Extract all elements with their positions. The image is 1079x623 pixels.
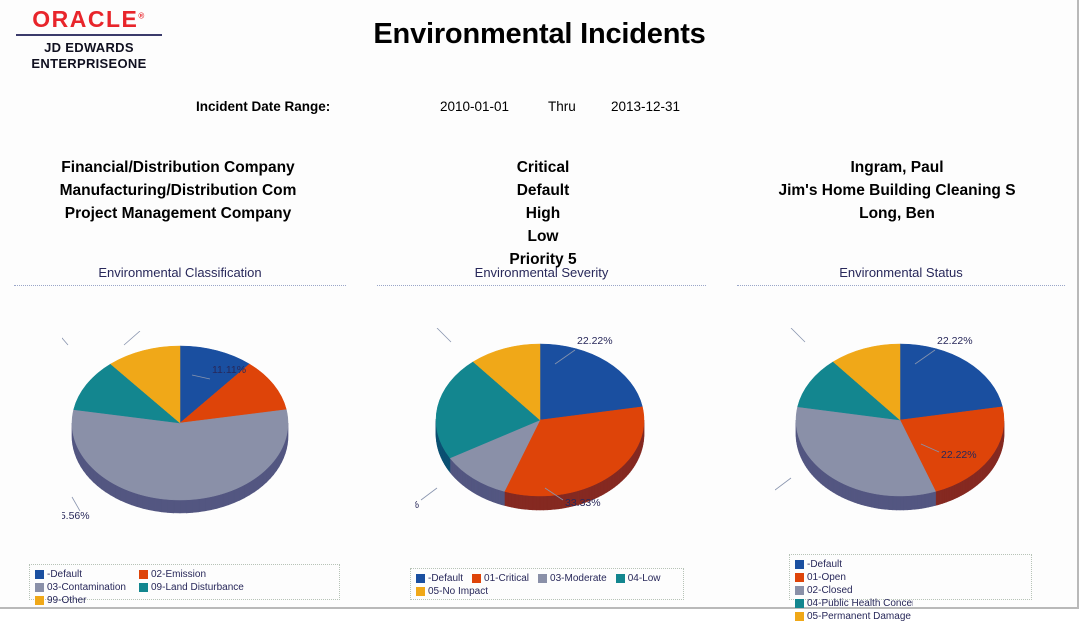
legend-severity: -Default01-Critical03-Moderate04-Low05-N…	[410, 568, 684, 600]
legend-swatch-icon	[795, 560, 804, 569]
pie-graphic: 11.11%11.11%55.56%11.11%11.11%	[62, 331, 298, 536]
pie-svg-status: 22.22%22.22%33.33%11.11%11.11%	[775, 328, 1025, 533]
pie-slice-percent-label: 55.56%	[62, 510, 90, 522]
legend-item: 03-Contamination	[35, 581, 139, 594]
chart-title-status: Environmental Status	[723, 265, 1079, 285]
legend-swatch-icon	[472, 574, 481, 583]
legend-item: 02-Emission	[139, 568, 243, 581]
chart-panel-classification: Environmental Classification 11.11%11.11…	[0, 265, 360, 536]
legend-item: 01-Critical	[472, 572, 529, 585]
list-item: Ingram, Paul	[722, 156, 1072, 179]
list-item: Project Management Company	[18, 202, 338, 225]
legend-label: 02-Closed	[807, 584, 853, 597]
list-item: Critical	[380, 156, 706, 179]
legend-swatch-icon	[35, 596, 44, 605]
legend-label: 02-Emission	[151, 568, 206, 581]
legend-swatch-icon	[35, 570, 44, 579]
chart-title-classification: Environmental Classification	[0, 265, 360, 285]
legend-item: 05-Permanent Damage	[795, 610, 913, 623]
report-page: ORACLE® JD EDWARDS ENTERPRISEONE Environ…	[0, 0, 1079, 609]
pie-chart-status: 22.22%22.22%33.33%11.11%11.11%	[723, 286, 1079, 536]
pie-slice-percent-label: 22.22%	[937, 335, 973, 347]
legend-item: -Default	[35, 568, 139, 581]
legend-label: 04-Low	[628, 572, 661, 585]
legend-swatch-icon	[795, 612, 804, 621]
pie-slice-percent-label: 11.11%	[415, 499, 419, 511]
label-leader-line	[62, 331, 68, 345]
chart-panel-severity: Environmental Severity 22.22%33.33%11.11…	[363, 265, 720, 536]
legend-items: -Default01-Open02-Closed04-Public Health…	[795, 558, 1027, 623]
legend-label: 04-Public Health Concern	[807, 597, 913, 610]
date-range-label: Incident Date Range:	[196, 99, 330, 114]
legend-status: -Default01-Open02-Closed04-Public Health…	[789, 554, 1032, 600]
legend-label: -Default	[807, 558, 842, 571]
legend-label: 99-Other	[47, 594, 86, 607]
list-item: Low	[380, 225, 706, 248]
legend-label: -Default	[428, 572, 463, 585]
list-item: Manufacturing/Distribution Com	[18, 179, 338, 202]
legend-label: 09-Land Disturbance	[151, 581, 244, 594]
legend-swatch-icon	[139, 570, 148, 579]
legend-label: 03-Moderate	[550, 572, 607, 585]
page-title: Environmental Incidents	[0, 18, 1079, 51]
legend-items: -Default02-Emission03-Contamination09-La…	[35, 568, 335, 607]
label-leader-line	[437, 328, 451, 342]
list-item: Financial/Distribution Company	[18, 156, 338, 179]
list-item: Default	[380, 179, 706, 202]
legend-item: 05-No Impact	[416, 585, 488, 598]
label-leader-line	[775, 478, 791, 490]
legend-label: 03-Contamination	[47, 581, 126, 594]
pie-svg-severity: 22.22%33.33%11.11%22.22%11.11%	[415, 328, 665, 533]
legend-swatch-icon	[795, 586, 804, 595]
pie-slice-percent-label: 22.22%	[941, 449, 977, 461]
label-leader-line	[72, 497, 80, 511]
people-parameter-list: Ingram, Paul Jim's Home Building Cleanin…	[722, 156, 1072, 225]
legend-label: -Default	[47, 568, 82, 581]
list-item: High	[380, 202, 706, 225]
legend-item: 02-Closed	[795, 584, 913, 597]
legend-item: -Default	[795, 558, 913, 571]
legend-item: 09-Land Disturbance	[139, 581, 243, 594]
legend-label: 05-Permanent Damage	[807, 610, 911, 623]
jd-edwards-line-2: ENTERPRISEONE	[14, 56, 164, 72]
legend-swatch-icon	[795, 573, 804, 582]
pie-slice-percent-label: 22.22%	[577, 335, 613, 347]
legend-item: 03-Moderate	[538, 572, 607, 585]
legend-items: -Default01-Critical03-Moderate04-Low05-N…	[416, 572, 679, 598]
legend-item: -Default	[416, 572, 463, 585]
legend-swatch-icon	[616, 574, 625, 583]
list-item: Jim's Home Building Cleaning S	[722, 179, 1072, 202]
pie-chart-severity: 22.22%33.33%11.11%22.22%11.11%	[363, 286, 720, 536]
chart-title-severity: Environmental Severity	[363, 265, 720, 285]
legend-swatch-icon	[35, 583, 44, 592]
chart-panel-status: Environmental Status 22.22%22.22%33.33%1…	[723, 265, 1079, 536]
pie-graphic: 22.22%22.22%33.33%11.11%11.11%	[775, 328, 1025, 538]
legend-swatch-icon	[416, 574, 425, 583]
legend-swatch-icon	[795, 599, 804, 608]
date-range-thru-label: Thru	[548, 99, 576, 114]
pie-svg-classification: 11.11%11.11%55.56%11.11%11.11%	[62, 331, 298, 531]
label-leader-line	[791, 328, 805, 342]
legend-item: 04-Public Health Concern	[795, 597, 913, 610]
legend-classification: -Default02-Emission03-Contamination09-La…	[29, 564, 340, 600]
legend-label: 05-No Impact	[428, 585, 488, 598]
legend-swatch-icon	[416, 587, 425, 596]
legend-item: 99-Other	[35, 594, 139, 607]
legend-swatch-icon	[139, 583, 148, 592]
legend-swatch-icon	[538, 574, 547, 583]
pie-slice-percent-label: 11.11%	[212, 364, 246, 376]
pie-slice-percent-label: 33.33%	[565, 497, 601, 509]
date-range-to: 2013-12-31	[611, 99, 680, 114]
pie-chart-classification: 11.11%11.11%55.56%11.11%11.11%	[0, 286, 360, 536]
severity-parameter-list: Critical Default High Low Priority 5	[380, 156, 706, 271]
legend-label: 01-Critical	[484, 572, 529, 585]
legend-item: 04-Low	[616, 572, 661, 585]
legend-item: 01-Open	[795, 571, 913, 584]
label-leader-line	[421, 488, 437, 500]
date-range-from: 2010-01-01	[440, 99, 509, 114]
legend-label: 01-Open	[807, 571, 846, 584]
pie-graphic: 22.22%33.33%11.11%22.22%11.11%	[415, 328, 665, 538]
list-item: Long, Ben	[722, 202, 1072, 225]
company-parameter-list: Financial/Distribution Company Manufactu…	[18, 156, 338, 225]
label-leader-line	[124, 331, 140, 345]
report-parameters: Financial/Distribution Company Manufactu…	[0, 156, 1079, 251]
